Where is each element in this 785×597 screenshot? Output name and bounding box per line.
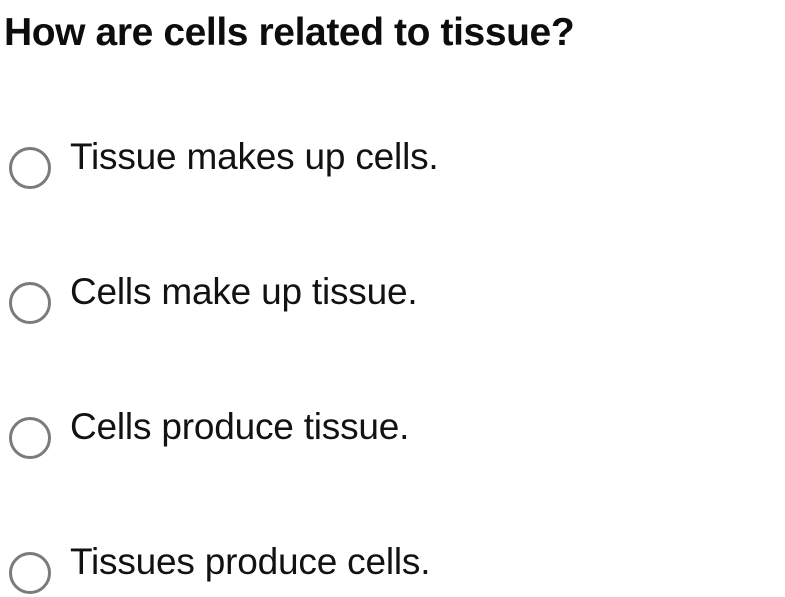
option-label-1: Cells make up tissue. — [70, 265, 417, 319]
radio-unchecked-icon[interactable] — [9, 552, 51, 594]
option-label-2: Cells produce tissue. — [70, 400, 409, 454]
option-label-3: Tissues produce cells. — [70, 535, 430, 589]
option-label-0: Tissue makes up cells. — [70, 130, 438, 184]
option-row-1[interactable]: Cells make up tissue. — [0, 265, 785, 400]
radio-unchecked-icon[interactable] — [9, 147, 51, 189]
radio-unchecked-icon[interactable] — [9, 417, 51, 459]
page-title: How are cells related to tissue? — [4, 8, 785, 58]
option-row-3[interactable]: Tissues produce cells. — [0, 535, 785, 597]
option-row-2[interactable]: Cells produce tissue. — [0, 400, 785, 535]
option-row-0[interactable]: Tissue makes up cells. — [0, 130, 785, 265]
answer-options-list: Tissue makes up cells. Cells make up tis… — [0, 130, 785, 597]
question-card: How are cells related to tissue? Tissue … — [0, 0, 785, 597]
radio-unchecked-icon[interactable] — [9, 282, 51, 324]
